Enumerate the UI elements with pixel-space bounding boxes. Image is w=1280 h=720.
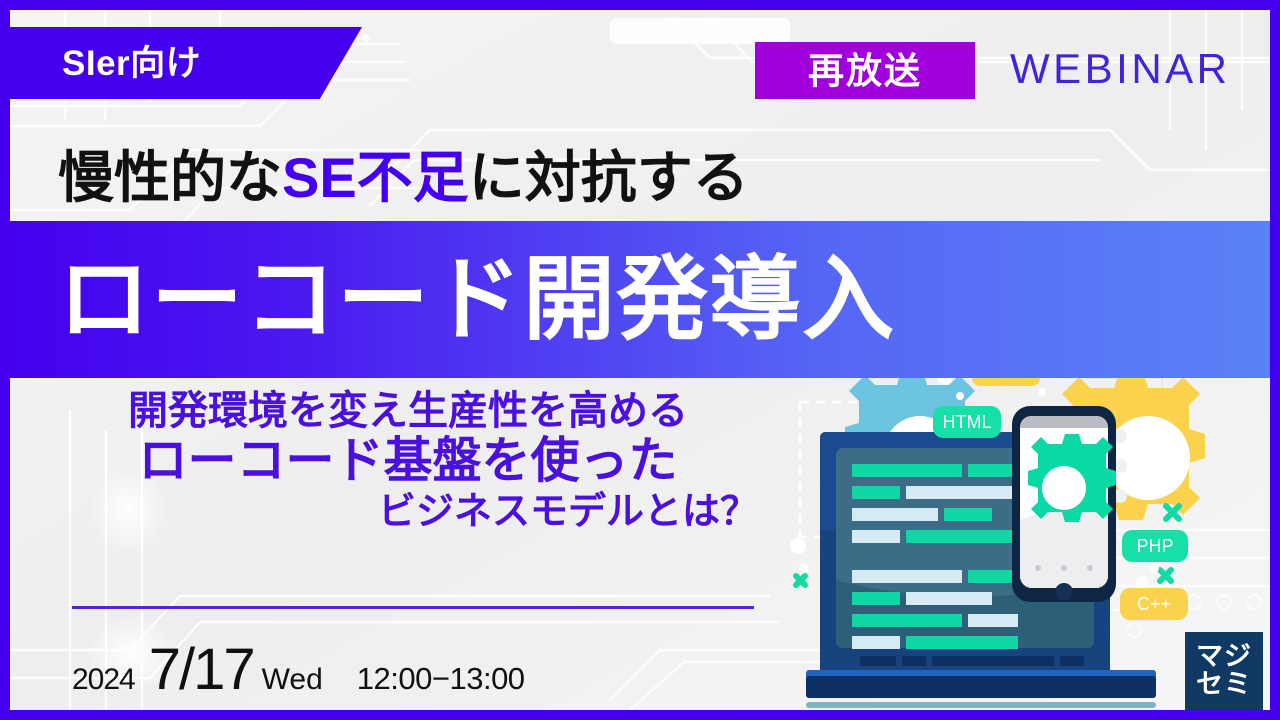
webinar-banner: SIer向け 再放送 WEBINAR 慢性的な SE不足 に対抗する ローコード… [0, 0, 1280, 720]
language-tag-php: PHP [1122, 530, 1188, 562]
subheadline-block: 開発環境を変え生産性を高める ローコード基盤を使った ビジネスモデルとは？ [10, 390, 800, 533]
headline-segment-2-accent: SE不足 [282, 150, 469, 206]
audience-tag-label: SIer向け [62, 46, 201, 81]
rebroadcast-badge: 再放送 [755, 42, 975, 99]
schedule-year: 2024 [72, 663, 135, 697]
brand-logo-line-2: セミ [1196, 671, 1252, 699]
main-title: ローコード開発導入 [58, 254, 895, 346]
headline-segment-1: 慢性的な [58, 150, 282, 206]
brand-logo: マジ セミ [1185, 632, 1263, 710]
svg-text:HTML: HTML [943, 412, 992, 432]
main-title-band: ローコード開発導入 [10, 221, 1270, 378]
schedule-time: 12:00−13:00 [357, 661, 525, 697]
language-tag-cpp: C++ [1120, 588, 1188, 620]
brand-logo-line-1: マジ [1196, 643, 1252, 671]
rebroadcast-badge-label: 再放送 [808, 53, 922, 89]
subheadline-line-1: 開発環境を変え生産性を高める [58, 390, 758, 433]
schedule-divider [72, 606, 754, 609]
smartphone-illustration [1012, 406, 1116, 602]
banner-canvas: SIer向け 再放送 WEBINAR 慢性的な SE不足 に対抗する ローコード… [10, 10, 1270, 710]
subheadline-line-2: ローコード基盤を使った [58, 435, 758, 488]
schedule-date: 7/17 [149, 636, 254, 703]
svg-text:PHP: PHP [1136, 536, 1173, 556]
svg-text:C++: C++ [1137, 594, 1171, 614]
headline-segment-3: に対抗する [469, 150, 749, 206]
headline-line-1: 慢性的な SE不足 に対抗する [10, 130, 1270, 226]
audience-tag: SIer向け [10, 27, 362, 99]
laptop-keyboard [860, 656, 1084, 666]
schedule-weekday: Wed [262, 663, 323, 697]
webinar-label: WEBINAR [1010, 48, 1231, 90]
schedule-row: 2024 7/17 Wed 12:00−13:00 [72, 636, 525, 694]
subheadline-line-3: ビジネスモデルとは？ [58, 492, 758, 533]
language-tag-html: HTML [933, 406, 1001, 438]
